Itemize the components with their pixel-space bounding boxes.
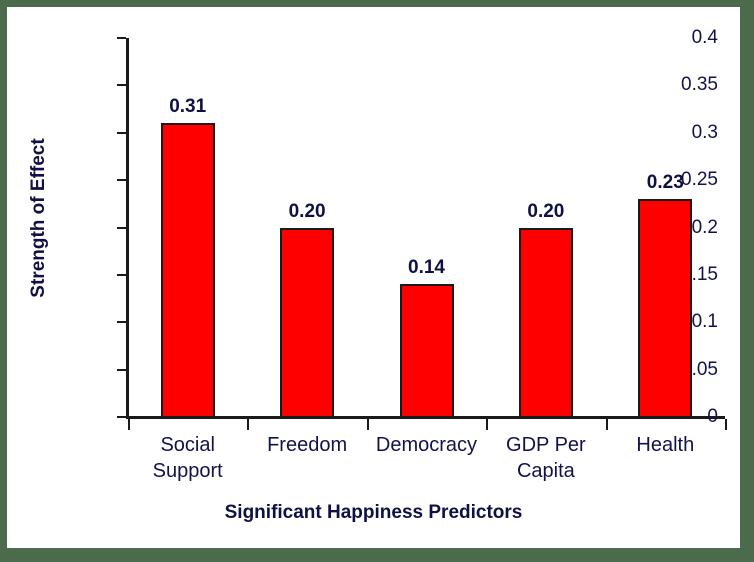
bar-value-label: 0.31 <box>138 96 238 118</box>
bar-value-label: 0.20 <box>257 201 357 223</box>
bar-value-label: 0.14 <box>377 257 477 279</box>
y-tick-label: 0.3 <box>692 122 718 144</box>
x-tick-mark <box>128 419 130 430</box>
x-tick-mark <box>247 419 249 430</box>
x-tick-mark <box>725 419 727 430</box>
y-axis-title: Strength of Effect <box>28 123 50 313</box>
y-tick-mark <box>117 37 126 39</box>
bar <box>280 228 334 419</box>
y-tick-mark <box>117 321 126 323</box>
y-tick-mark <box>117 84 126 86</box>
y-tick-mark <box>117 274 126 276</box>
y-tick-mark <box>117 369 126 371</box>
bar-value-label: 0.23 <box>615 172 715 194</box>
bar <box>400 284 454 418</box>
y-tick-mark <box>117 227 126 229</box>
plot-area: 00.050.10.150.20.250.30.350.4 0.310.200.… <box>7 7 740 548</box>
x-category-label-line: Support <box>108 458 268 484</box>
x-category-label-line: Capita <box>466 458 626 484</box>
bar-value-label: 0.20 <box>496 201 596 223</box>
y-tick-label: 0 <box>707 406 718 428</box>
y-tick-label: 0.4 <box>692 27 718 49</box>
y-tick-label: 0.1 <box>692 311 718 333</box>
x-tick-mark <box>367 419 369 430</box>
bar <box>161 123 215 418</box>
y-tick-label: 0.35 <box>681 74 718 96</box>
x-tick-mark <box>606 419 608 430</box>
bar <box>638 199 692 418</box>
x-category-label: Health <box>585 432 740 458</box>
y-tick-mark <box>117 132 126 134</box>
y-tick-label: 0.2 <box>692 217 718 239</box>
x-category-label-line: Health <box>585 432 740 458</box>
y-tick-mark <box>117 416 126 418</box>
x-tick-mark <box>486 419 488 430</box>
chart-figure: 00.050.10.150.20.250.30.350.4 0.310.200.… <box>7 7 740 548</box>
y-tick-mark <box>117 179 126 181</box>
x-axis-title: Significant Happiness Predictors <box>7 502 740 524</box>
bar <box>519 228 573 419</box>
y-axis-line <box>126 38 129 419</box>
